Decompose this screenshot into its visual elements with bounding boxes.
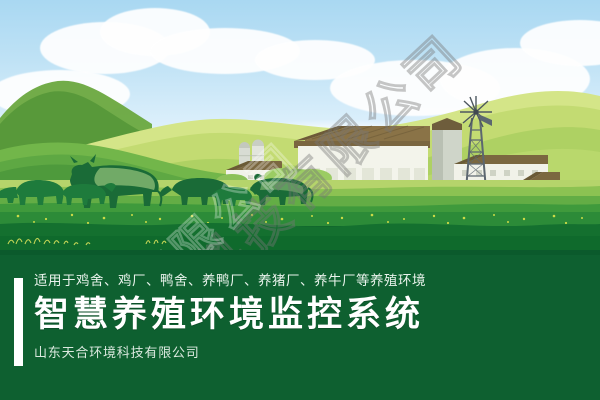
accent-bar bbox=[14, 278, 23, 366]
cow-6 bbox=[0, 187, 18, 204]
cow-group-svg bbox=[0, 150, 600, 230]
banner-text-block: 适用于鸡舍、鸡厂、鸭舍、养鸭厂、养猪厂、养牛厂等养殖环境 智慧养殖环境监控系统 … bbox=[34, 274, 574, 361]
cow-5 bbox=[250, 174, 312, 205]
company-name: 山东天合环境科技有限公司 bbox=[34, 342, 574, 361]
green-banner: 适用于鸡舍、鸡厂、鸭舍、养鸭厂、养猪厂、养牛厂等养殖环境 智慧养殖环境监控系统 … bbox=[0, 250, 600, 400]
page-title: 智慧养殖环境监控系统 bbox=[34, 295, 574, 334]
banner-top-edge bbox=[0, 250, 600, 255]
poster-root: 环境科技有限公司 环境科技有限公司 适用于鸡舍、鸡厂、鸭舍、养鸭厂、养猪厂、养牛… bbox=[0, 0, 600, 400]
banner-subtitle: 适用于鸡舍、鸡厂、鸭舍、养鸭厂、养猪厂、养牛厂等养殖环境 bbox=[34, 274, 574, 288]
